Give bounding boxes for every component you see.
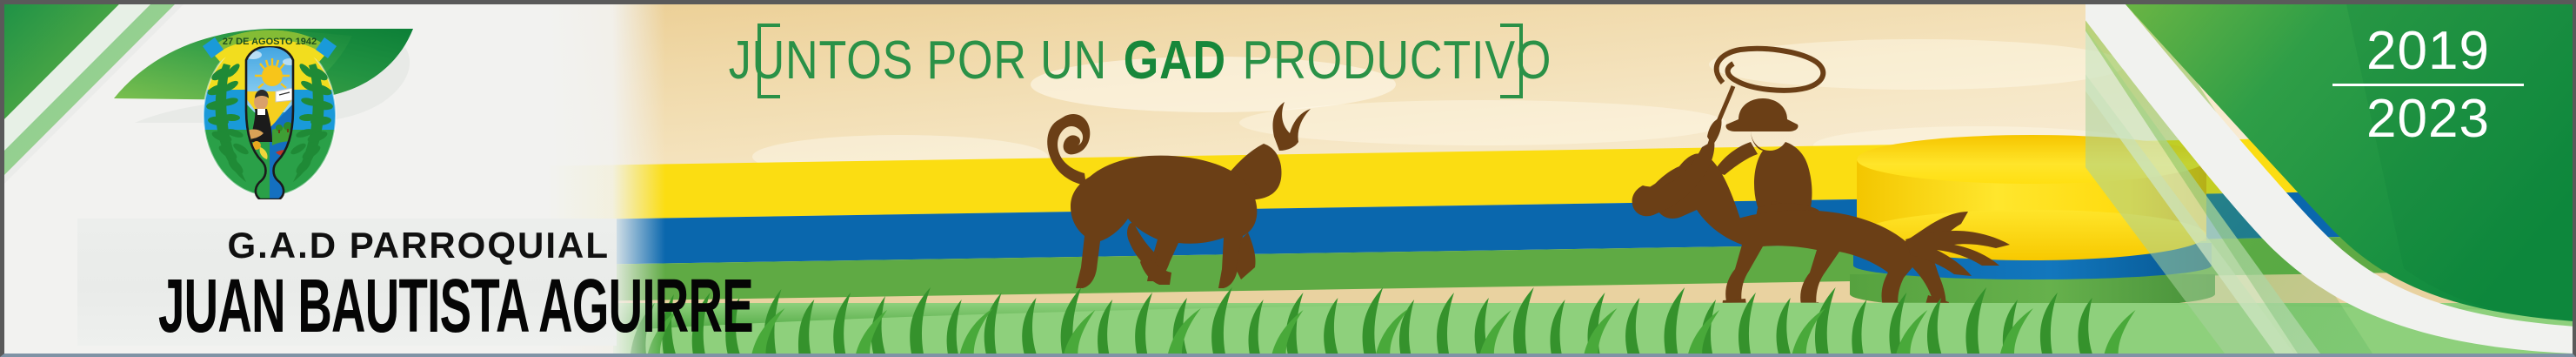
crest-ribbon-text: 27 DE AGOSTO 1942: [223, 37, 317, 47]
institutional-banner: 27 DE AGOSTO 1942 G.A.D PARROQUIAL JUAN …: [0, 0, 2576, 357]
coat-of-arms: 27 DE AGOSTO 1942: [189, 11, 350, 199]
slogan-part-1: JUNTOS POR UN: [729, 34, 1107, 88]
organization-nameplate: G.A.D PARROQUIAL JUAN BAUTISTA AGUIRRE: [77, 219, 617, 346]
slogan-block: JUNTOS POR UN GAD PRODUCTIVO: [757, 24, 1523, 98]
org-line-2: JUAN BAUTISTA AGUIRRE: [158, 267, 536, 343]
term-end-year: 2023: [2324, 91, 2533, 146]
term-start-year: 2019: [2324, 24, 2533, 78]
slogan-text: JUNTOS POR UN GAD PRODUCTIVO: [844, 24, 1437, 98]
slogan-highlight: GAD: [1120, 34, 1229, 88]
left-identity-panel: 27 DE AGOSTO 1942 G.A.D PARROQUIAL JUAN …: [4, 4, 665, 354]
org-line-1: G.A.D PARROQUIAL: [77, 227, 610, 264]
slogan-part-2: PRODUCTIVO: [1243, 34, 1552, 88]
term-years: 2019 2023: [2324, 24, 2533, 146]
term-divider: [2332, 84, 2524, 86]
